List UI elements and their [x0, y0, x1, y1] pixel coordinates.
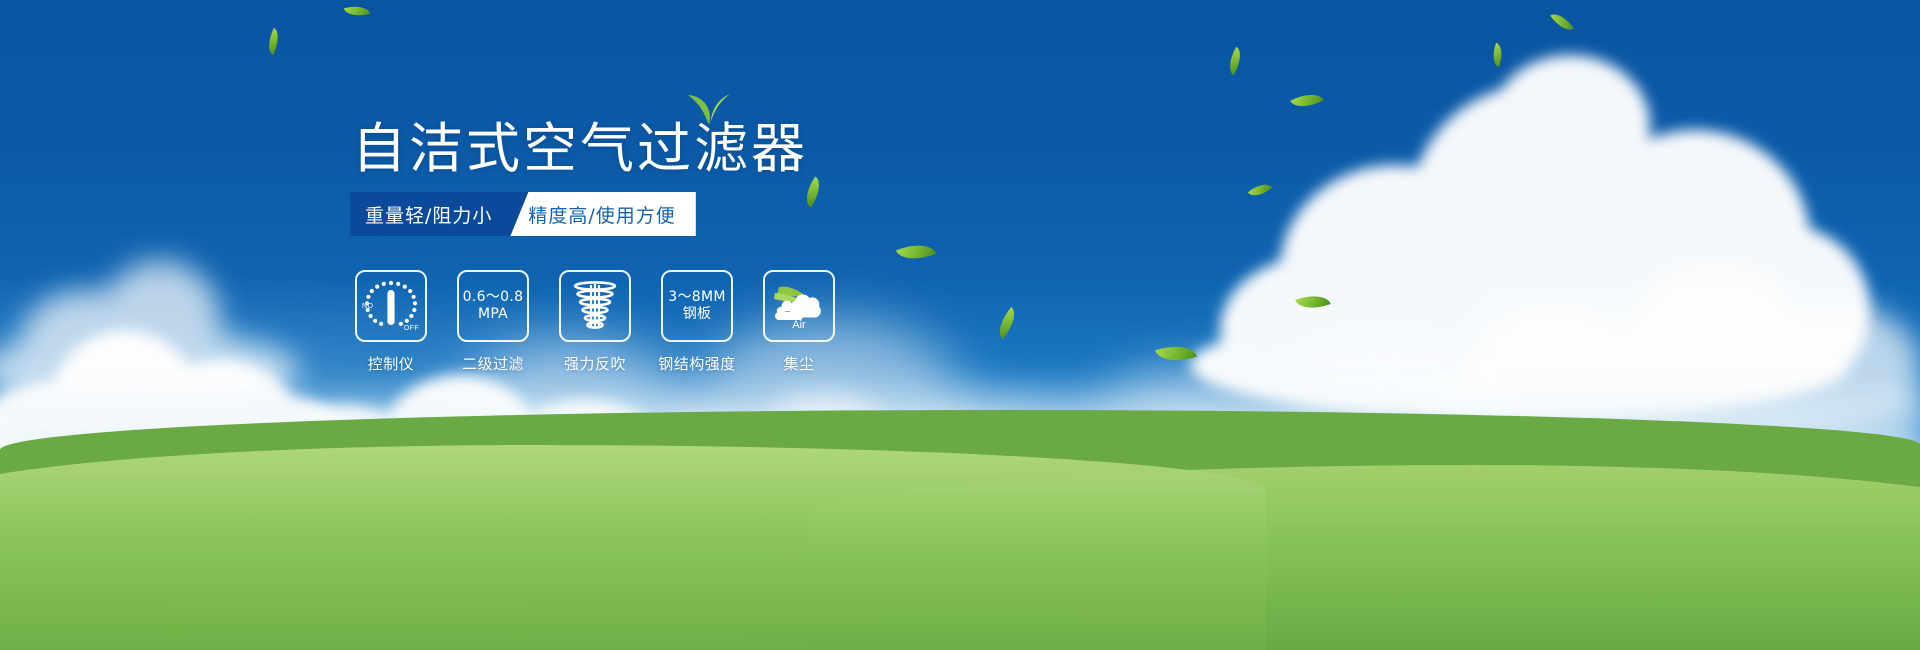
feature-item-steel-strength[interactable]: 3～8MM 钢板 钢结构强度 [661, 270, 733, 374]
feature-item-filtration[interactable]: 0.6～0.8 MPA 二级过滤 [457, 270, 529, 374]
feature-label-blowback: 强力反吹 [564, 353, 626, 374]
feature-label-controller: 控制仪 [368, 353, 415, 374]
product-banner: 自洁式空气过滤器 重量轻/阻力小 精度高/使用方便 [0, 0, 1920, 650]
steel-plate-value: 3～8MM 钢板 [668, 289, 725, 323]
page-title: 自洁式空气过滤器 [352, 118, 808, 180]
feature-label-dust-collection: 集尘 [783, 353, 814, 374]
badge-precision-convenience[interactable]: 精度高/使用方便 [510, 192, 695, 236]
pressure-value: 0.6～0.8 MPA [463, 289, 524, 323]
feature-item-controller[interactable]: NO OFF 控制仪 [355, 270, 427, 374]
control-dial-icon: NO OFF [355, 270, 427, 342]
title-leaf-icon [686, 92, 732, 126]
feature-row: NO OFF 控制仪 0.6～0.8 MPA 二级过滤 [355, 270, 835, 374]
pressure-text-icon: 0.6～0.8 MPA [457, 270, 529, 342]
feature-item-blowback[interactable]: 强力反吹 [559, 270, 631, 374]
blowback-coil-icon [559, 270, 631, 342]
feature-item-dust-collection[interactable]: Air 集尘 [763, 270, 835, 374]
air-cloud-icon: Air [763, 270, 835, 342]
badge-row: 重量轻/阻力小 精度高/使用方便 [350, 192, 696, 236]
badge-weight-resistance[interactable]: 重量轻/阻力小 [350, 192, 528, 236]
feature-label-filtration: 二级过滤 [462, 353, 524, 374]
steel-plate-icon: 3～8MM 钢板 [661, 270, 733, 342]
dial-max-label: OFF [404, 325, 419, 332]
feature-label-steel-strength: 钢结构强度 [658, 353, 736, 374]
dial-min-label: NO [362, 303, 373, 310]
air-sub-label: Air [765, 319, 833, 331]
